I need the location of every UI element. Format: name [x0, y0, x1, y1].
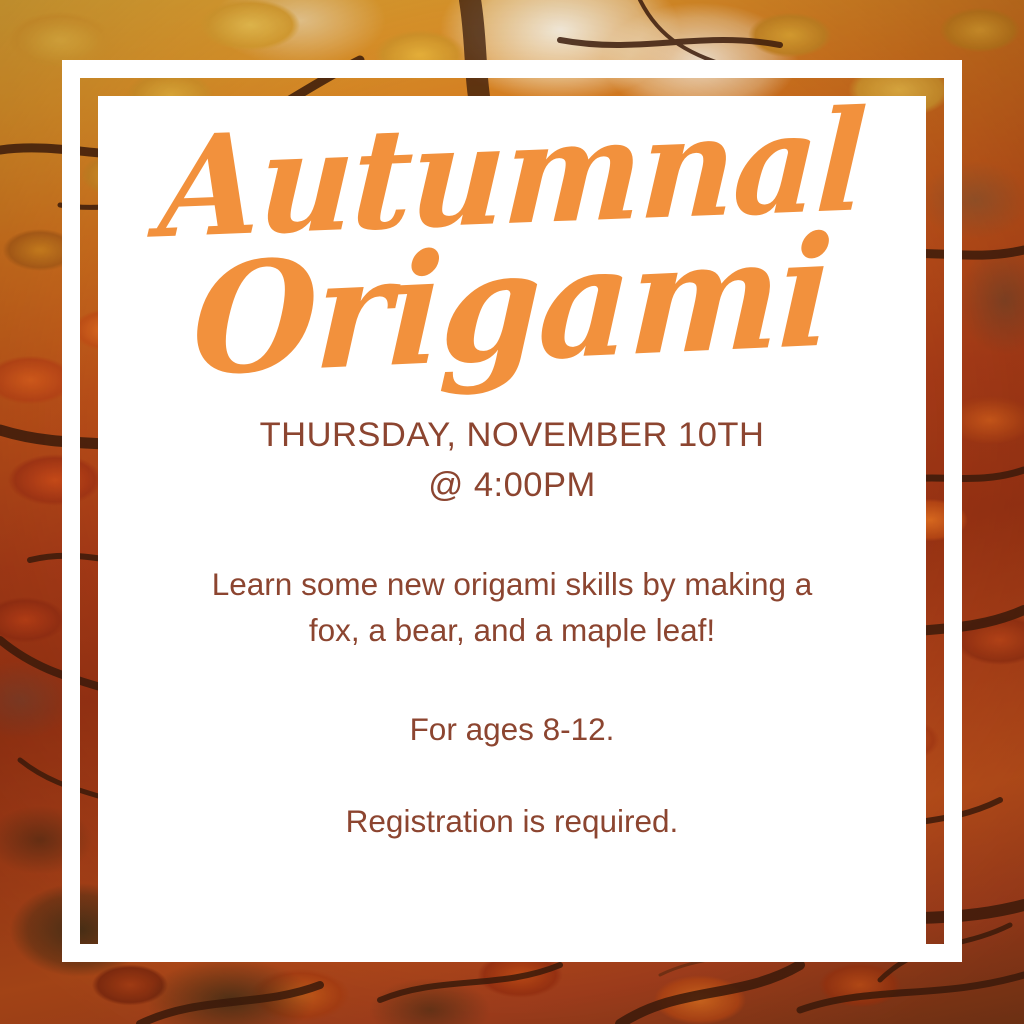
poster-title: Autumnal Origami: [98, 96, 926, 372]
age-range-note: For ages 8-12.: [410, 711, 615, 748]
title-line-origami: Origami: [95, 218, 928, 395]
event-date-time: THURSDAY, NOVEMBER 10TH @ 4:00PM: [260, 410, 765, 511]
description-line-2: fox, a bear, and a maple leaf!: [132, 607, 892, 654]
event-date: THURSDAY, NOVEMBER 10TH: [260, 410, 765, 460]
event-description: Learn some new origami skills by making …: [132, 561, 892, 654]
poster-content: Autumnal Origami THURSDAY, NOVEMBER 10TH…: [98, 96, 926, 946]
registration-note: Registration is required.: [346, 803, 679, 840]
event-time: @ 4:00PM: [260, 460, 765, 510]
description-line-1: Learn some new origami skills by making …: [132, 561, 892, 608]
poster: Autumnal Origami THURSDAY, NOVEMBER 10TH…: [0, 0, 1024, 1024]
